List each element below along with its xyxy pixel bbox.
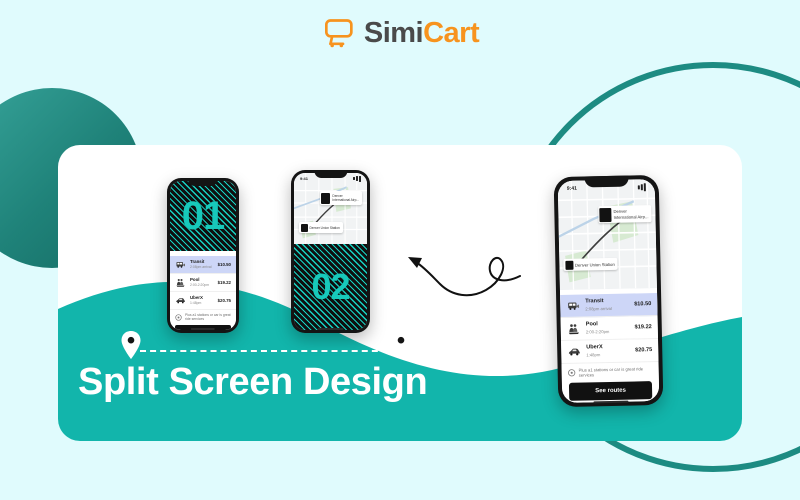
ride-price: $10.50 — [218, 262, 231, 267]
poster-canvas: SimiCart Split Screen Design 01 — [0, 0, 800, 500]
ride-price: $10.50 — [634, 301, 651, 307]
ride-price: $19.22 — [218, 280, 231, 285]
promo-text: Plus a1 stations or car is great ride se… — [185, 313, 231, 321]
ride-price: $20.75 — [218, 298, 231, 303]
origin-chip[interactable]: Denver Union Station — [563, 258, 618, 271]
info-gear-icon — [175, 314, 182, 321]
phone-frame: 9:41 Denver International Airp... — [554, 175, 664, 407]
battery-icon — [359, 176, 361, 182]
signal-bars-icon — [353, 177, 355, 180]
transit-bus-icon — [175, 259, 186, 270]
uberx-car-icon — [175, 295, 186, 306]
destination-chip[interactable]: Denver International Airp... — [598, 205, 652, 223]
dashed-route-line — [140, 350, 398, 352]
step-panel-two: 02 — [294, 244, 367, 330]
map-marker-square-icon — [599, 208, 611, 222]
ride-options-list: Transit 2:08pm arrival $10.50 — [170, 251, 236, 330]
status-time: 9:41 — [567, 186, 577, 192]
promo-text: Plus a1 stations or car is great ride se… — [579, 366, 653, 378]
brand-name-cart: Cart — [423, 17, 479, 49]
ride-price: $20.75 — [635, 347, 652, 353]
status-time: 9:41 — [300, 176, 308, 181]
ride-subtitle: 2:00-2:20pm — [190, 283, 214, 287]
ride-subtitle: 2:00-2:20pm — [586, 328, 630, 334]
ride-text: UberX 1:48pm — [190, 295, 214, 305]
status-icons — [353, 176, 361, 182]
curved-loop-arrow-icon — [400, 238, 522, 310]
ride-option-row[interactable]: Pool 2:00-2:20pm $19.22 — [561, 316, 658, 341]
ride-option-row[interactable]: UberX 1:48pm $20.75 — [561, 339, 658, 364]
map-graphic — [558, 179, 657, 290]
phone-frame: 01 Transit — [167, 178, 239, 333]
ride-option-row[interactable]: Transit 2:08pm arrival $10.50 — [170, 256, 236, 274]
ride-text: Transit 2:08pm arrival — [585, 298, 629, 312]
step-number: 02 — [311, 269, 349, 305]
uberx-car-icon — [567, 344, 581, 358]
location-pin-icon — [120, 330, 142, 360]
ride-subtitle: 1:48pm — [190, 301, 214, 305]
transit-bus-icon — [566, 298, 580, 312]
map-marker-square-icon — [301, 224, 308, 232]
map-marker-square-icon — [565, 261, 573, 270]
brand-wordmark: SimiCart — [364, 19, 479, 48]
origin-label: Denver Union Station — [575, 262, 615, 268]
phone-mockup-three: 9:41 Denver International Airp... — [554, 175, 664, 407]
phone-notch — [314, 170, 347, 178]
ride-option-row[interactable]: Transit 2:08pm arrival $10.50 — [560, 293, 657, 318]
phone-screen: 01 Transit — [170, 181, 236, 330]
destination-chip[interactable]: Denver International Airp... — [320, 191, 362, 205]
brand-name-simi: Simi — [364, 17, 423, 49]
map-graphic — [294, 173, 367, 244]
sheet-drag-handle[interactable] — [596, 292, 621, 293]
promo-note: Plus a1 stations or car is great ride se… — [562, 362, 659, 382]
signal-bars-icon — [638, 185, 640, 189]
origin-label: Denver Union Station — [310, 226, 340, 230]
ride-text: Pool 2:00-2:20pm — [190, 277, 214, 287]
home-indicator — [317, 328, 344, 330]
phone-notch — [584, 176, 628, 188]
destination-line-two: International Airp... — [613, 214, 648, 220]
promo-note: Plus a1 stations or car is great ride se… — [170, 310, 236, 324]
destination-line-two: International Airp... — [332, 198, 359, 202]
pool-people-icon — [175, 277, 186, 288]
phone-notch — [188, 178, 218, 186]
shopping-cart-icon — [321, 18, 355, 48]
wifi-icon — [641, 184, 643, 190]
ride-name: UberX — [190, 295, 214, 300]
phone-mockup-two: 9:41 Denver International Airp... — [291, 170, 370, 333]
map-view[interactable]: 9:41 Denver International Airp... — [294, 173, 367, 244]
origin-chip[interactable]: Denver Union Station — [299, 222, 343, 233]
phone-screen: 9:41 Denver International Airp... — [558, 179, 660, 403]
home-indicator — [191, 328, 215, 330]
battery-icon — [644, 183, 646, 191]
ride-text: Pool 2:00-2:20pm — [586, 321, 630, 335]
page-title: Split Screen Design — [78, 362, 427, 404]
map-view[interactable]: 9:41 Denver International Airp... — [558, 179, 657, 290]
phone-frame: 9:41 Denver International Airp... — [291, 170, 370, 333]
ride-text: UberX 1:48pm — [586, 344, 630, 358]
phone-screen: 9:41 Denver International Airp... — [294, 173, 367, 330]
ride-option-row[interactable]: UberX 1:48pm $20.75 — [170, 292, 236, 310]
ride-options-list: Transit 2:08pm arrival $10.50 — [560, 288, 659, 403]
info-gear-icon — [568, 368, 576, 376]
destination-label: Denver International Airp... — [332, 194, 359, 202]
ride-text: Transit 2:08pm arrival — [190, 259, 214, 269]
ride-name: Pool — [190, 277, 214, 282]
see-routes-button[interactable]: See routes — [569, 381, 652, 401]
status-icons — [638, 183, 646, 191]
destination-label: Denver International Airp... — [613, 208, 648, 219]
ride-option-row[interactable]: Pool 2:00-2:20pm $19.22 — [170, 274, 236, 292]
step-number: 01 — [182, 196, 225, 236]
step-panel-one: 01 — [170, 181, 236, 251]
location-pin-icon — [390, 330, 412, 360]
brand-logo: SimiCart — [0, 18, 800, 48]
ride-subtitle: 1:48pm — [586, 351, 630, 357]
map-marker-square-icon — [321, 193, 330, 204]
ride-price: $19.22 — [635, 324, 652, 330]
pool-people-icon — [567, 321, 581, 335]
ride-subtitle: 2:08pm arrival — [190, 265, 214, 269]
phone-mockup-one: 01 Transit — [167, 178, 239, 333]
wifi-icon — [356, 176, 358, 181]
ride-subtitle: 2:08pm arrival — [585, 305, 629, 311]
ride-name: Transit — [190, 259, 214, 264]
home-indicator — [593, 401, 629, 404]
